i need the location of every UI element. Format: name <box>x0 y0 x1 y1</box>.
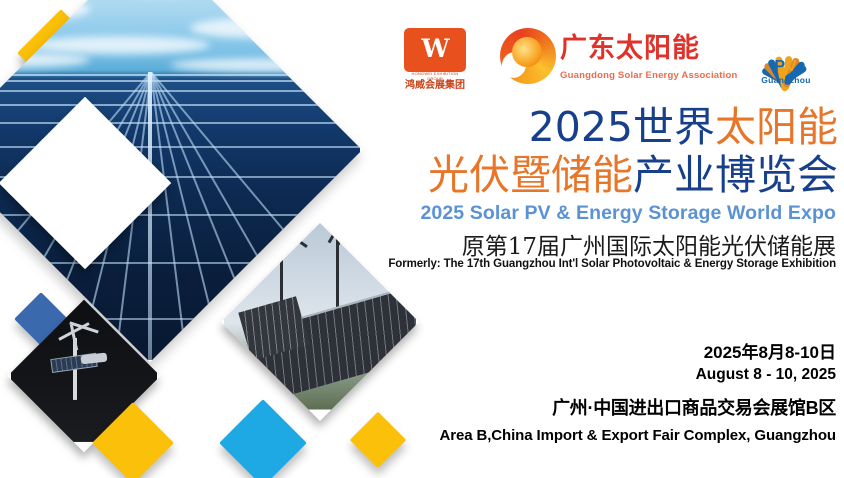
title-line-2-part-1: 光伏暨储能 <box>428 151 633 199</box>
cyan-diamond-bottom <box>219 399 307 478</box>
pv-guangzhou-logo: PV Guangzhou <box>738 26 834 90</box>
guangdong-solar-energy-association-logo: 广东太阳能 Guangdong Solar Energy Association <box>500 26 725 90</box>
title-line-1-part-1: 2025世界 <box>529 103 715 151</box>
title-english: 2025 Solar PV & Energy Storage World Exp… <box>420 202 836 225</box>
poster-text-panel: W HONGWEI EXHIBITION GROUP 鸿威会展集团 广东太阳能 … <box>400 0 844 478</box>
event-venue-en: Area B,China Import & Export Fair Comple… <box>439 427 836 444</box>
collage-graphic <box>0 0 430 478</box>
former-name-cn: 原第17届广州国际太阳能光伏储能展 <box>462 227 836 261</box>
title-line-2-part-2: 产业博览会 <box>633 151 838 199</box>
pv-guangzhou-pv-text: PV <box>738 59 834 75</box>
expo-poster: W HONGWEI EXHIBITION GROUP 鸿威会展集团 广东太阳能 … <box>0 0 844 478</box>
title-line-1: 2025世界太阳能 <box>529 104 838 150</box>
hongwei-exhibition-group-logo: W HONGWEI EXHIBITION GROUP 鸿威会展集团 <box>404 28 466 88</box>
former-name-en: Formerly: The 17th Guangzhou Int'l Solar… <box>388 258 836 270</box>
title-line-2: 光伏暨储能产业博览会 <box>428 152 838 198</box>
pv-letter-v: V <box>786 58 798 75</box>
event-venue-cn: 广州·中国进出口商品交易会展馆B区 <box>552 394 836 420</box>
sun-swirl-icon <box>500 28 556 84</box>
title-line-1-part-2: 太阳能 <box>715 103 838 151</box>
pv-guangzhou-city-text: Guangzhou <box>738 75 834 85</box>
event-date-cn: 2025年8月8-10日 <box>704 338 836 363</box>
hongwei-caption-cn: 鸿威会展集团 <box>404 76 466 91</box>
gdsea-title-en: Guangdong Solar Energy Association <box>560 70 728 81</box>
gdsea-title-cn: 广东太阳能 <box>560 31 725 67</box>
logo-row: W HONGWEI EXHIBITION GROUP 鸿威会展集团 广东太阳能 … <box>400 26 844 92</box>
hongwei-w-letter: W <box>404 32 466 66</box>
pv-letter-p: P <box>774 58 786 75</box>
event-date-en: August 8 - 10, 2025 <box>696 366 836 384</box>
yellow-diamond-bottom-right <box>350 412 407 469</box>
